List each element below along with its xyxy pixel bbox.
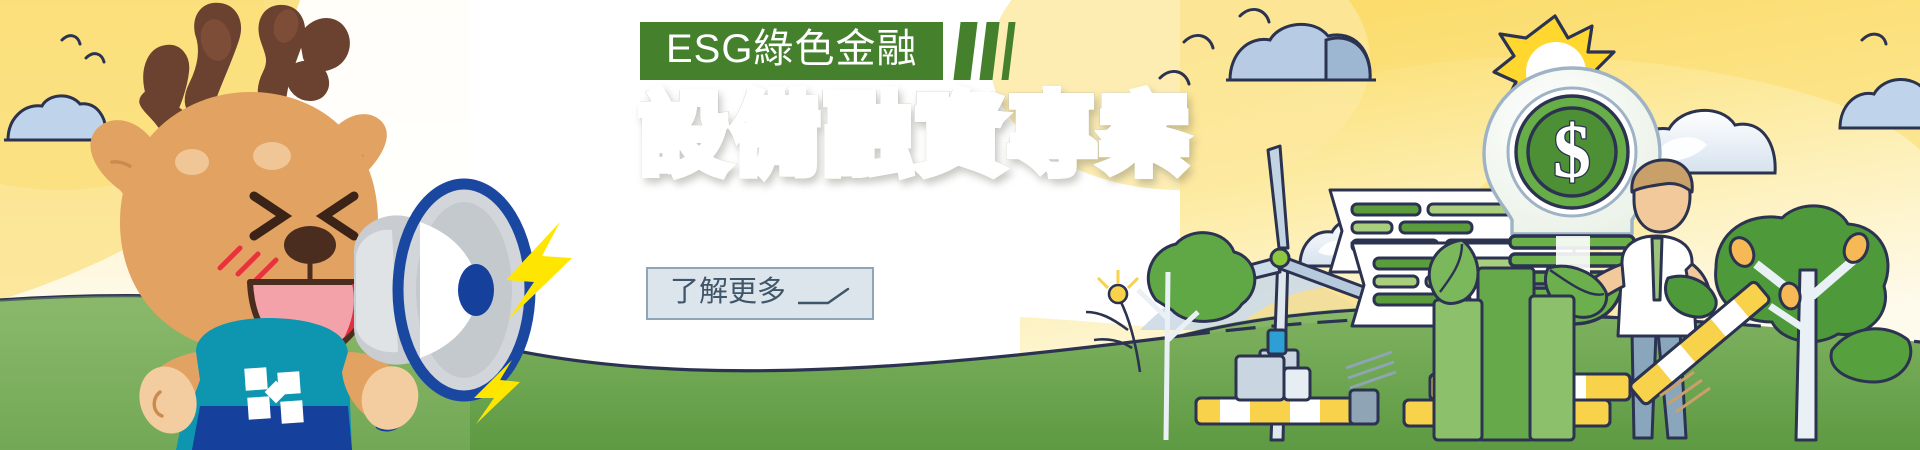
nose [284, 226, 336, 264]
stripe-1 [954, 22, 978, 80]
eyebrow-row: ESG綠色金融 [640, 22, 1360, 80]
decorative-stripes [957, 22, 1012, 80]
learn-more-label: 了解更多 [670, 278, 786, 307]
stripe-3 [1002, 22, 1016, 80]
stripe-2 [980, 22, 1000, 80]
esg-green-finance-banner: $ [0, 0, 1920, 450]
page-title: 設備融資專案 [640, 90, 1360, 182]
arrow-right-icon [798, 287, 852, 305]
banner-copy: ESG綠色金融 設備融資專案 了解更多 [640, 22, 1360, 320]
eyebrow-label: ESG綠色金融 [640, 22, 943, 80]
learn-more-button[interactable]: 了解更多 [646, 267, 874, 320]
megaphone-icon [354, 184, 530, 436]
